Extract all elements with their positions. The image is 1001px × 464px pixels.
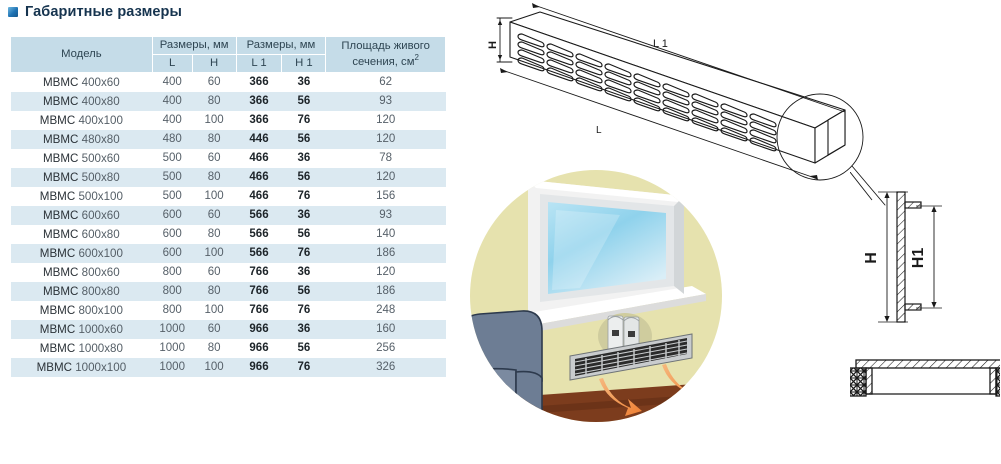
cell-l: 800: [152, 282, 192, 301]
cell-h: 80: [192, 168, 236, 187]
table-row: МВМС 480x804808044656120: [11, 130, 446, 149]
model-prefix: МВМС: [37, 361, 72, 374]
model-dimension: 800x100: [78, 304, 122, 317]
cell-model: МВМС 1000x80: [11, 339, 153, 358]
table-header: Модель Размеры, мм Размеры, мм Площадь ж…: [11, 37, 446, 73]
cell-l: 500: [152, 187, 192, 206]
cell-l: 1000: [152, 320, 192, 339]
cell-l1: 766: [236, 301, 282, 320]
cell-h: 100: [192, 301, 236, 320]
model-dimension: 1000x60: [78, 323, 122, 336]
header-sub-l1: L 1: [236, 54, 282, 72]
square-bullet-icon: [8, 7, 18, 17]
model-prefix: МВМС: [43, 266, 78, 279]
header-free-area: Площадь живого сечения, см2: [326, 37, 446, 73]
model-dimension: 400x80: [82, 95, 120, 108]
model-prefix: МВМС: [43, 95, 78, 108]
header-sub-h1: H 1: [282, 54, 326, 72]
cell-h1: 36: [282, 72, 326, 92]
model-prefix: МВМС: [43, 133, 78, 146]
model-dimension: 400x100: [78, 114, 122, 127]
model-prefix: МВМС: [40, 323, 75, 336]
page-title: Габаритные размеры: [8, 4, 182, 20]
model-prefix: МВМС: [43, 171, 78, 184]
cell-model: МВМС 500x60: [11, 149, 153, 168]
cell-model: МВМС 500x80: [11, 168, 153, 187]
cell-free-area: 326: [326, 358, 446, 377]
cell-h: 80: [192, 339, 236, 358]
cell-h1: 56: [282, 92, 326, 111]
cell-h: 60: [192, 263, 236, 282]
cell-h: 60: [192, 149, 236, 168]
table-row: МВМС 1000x8010008096656256: [11, 339, 446, 358]
cell-l: 480: [152, 130, 192, 149]
cell-h1: 56: [282, 168, 326, 187]
model-dimension: 1000x80: [78, 342, 122, 355]
table-row: МВМС 800x808008076656186: [11, 282, 446, 301]
cell-l: 400: [152, 72, 192, 92]
cell-h1: 76: [282, 111, 326, 130]
cell-l1: 766: [236, 263, 282, 282]
cell-h1: 56: [282, 130, 326, 149]
cell-free-area: 93: [326, 92, 446, 111]
cell-free-area: 186: [326, 282, 446, 301]
cell-free-area: 156: [326, 187, 446, 206]
cell-l1: 566: [236, 206, 282, 225]
iso-label-l1: L 1: [653, 38, 668, 50]
model-dimension: 600x60: [82, 209, 120, 222]
model-dimension: 500x80: [82, 171, 120, 184]
cell-h: 100: [192, 111, 236, 130]
table-row: МВМС 1000x6010006096636160: [11, 320, 446, 339]
cell-free-area: 186: [326, 244, 446, 263]
cell-l1: 566: [236, 225, 282, 244]
header-sub-l: L: [152, 54, 192, 72]
cell-l1: 966: [236, 358, 282, 377]
cell-h1: 36: [282, 149, 326, 168]
cell-model: МВМС 400x60: [11, 72, 153, 92]
model-dimension: 1000x100: [75, 361, 126, 374]
iso-label-h: H: [487, 41, 499, 49]
cell-model: МВМС 600x100: [11, 244, 153, 263]
cell-h1: 76: [282, 187, 326, 206]
section-label-h1: H1: [910, 248, 927, 269]
model-prefix: МВМС: [40, 247, 75, 260]
cell-h1: 76: [282, 358, 326, 377]
cell-h1: 56: [282, 339, 326, 358]
model-prefix: МВМС: [43, 152, 78, 165]
cell-l: 600: [152, 244, 192, 263]
cell-l1: 966: [236, 339, 282, 358]
cell-h1: 56: [282, 225, 326, 244]
table-header-row-1: Модель Размеры, мм Размеры, мм Площадь ж…: [11, 37, 446, 55]
cell-h1: 36: [282, 263, 326, 282]
cell-h: 100: [192, 187, 236, 206]
model-prefix: МВМС: [40, 114, 75, 127]
cell-model: МВМС 1000x100: [11, 358, 153, 377]
cell-h1: 36: [282, 206, 326, 225]
model-prefix: МВМС: [43, 76, 78, 89]
cell-h: 60: [192, 320, 236, 339]
cell-free-area: 120: [326, 111, 446, 130]
cell-l: 500: [152, 149, 192, 168]
table-row: МВМС 600x60600605663693: [11, 206, 446, 225]
cell-free-area: 93: [326, 206, 446, 225]
cell-model: МВМС 600x60: [11, 206, 153, 225]
cell-free-area: 248: [326, 301, 446, 320]
table-row: МВМС 400x80400803665693: [11, 92, 446, 111]
table-body: МВМС 400x60400603663662МВМС 400x80400803…: [11, 72, 446, 377]
cell-model: МВМС 1000x60: [11, 320, 153, 339]
model-prefix: МВМС: [40, 304, 75, 317]
model-dimension: 800x80: [82, 285, 120, 298]
table-row: МВМС 500x10050010046676156: [11, 187, 446, 206]
cell-h: 80: [192, 92, 236, 111]
cell-h: 80: [192, 282, 236, 301]
model-dimension: 500x100: [78, 190, 122, 203]
model-dimension: 800x60: [82, 266, 120, 279]
cross-section-drawing: H H1: [850, 172, 1000, 404]
cell-l: 800: [152, 263, 192, 282]
cell-l1: 566: [236, 244, 282, 263]
cell-free-area: 120: [326, 130, 446, 149]
cell-free-area: 62: [326, 72, 446, 92]
cell-free-area: 120: [326, 263, 446, 282]
iso-label-l: L: [596, 125, 602, 136]
header-group-dims-1: Размеры, мм: [152, 37, 236, 55]
cell-free-area: 256: [326, 339, 446, 358]
cell-free-area: 160: [326, 320, 446, 339]
cell-free-area: 140: [326, 225, 446, 244]
table-row: МВМС 400x60400603663662: [11, 72, 446, 92]
cell-h: 80: [192, 225, 236, 244]
cell-l: 800: [152, 301, 192, 320]
table-row: МВМС 1000x100100010096676326: [11, 358, 446, 377]
dimensions-table: Модель Размеры, мм Размеры, мм Площадь ж…: [10, 36, 446, 377]
cell-h: 100: [192, 244, 236, 263]
model-prefix: МВМС: [43, 285, 78, 298]
table-row: МВМС 600x806008056656140: [11, 225, 446, 244]
model-prefix: МВМС: [43, 228, 78, 241]
table-row: МВМС 500x60500604663678: [11, 149, 446, 168]
cell-l1: 766: [236, 282, 282, 301]
cell-l1: 366: [236, 72, 282, 92]
cell-l: 600: [152, 225, 192, 244]
cell-l: 1000: [152, 358, 192, 377]
model-dimension: 500x60: [82, 152, 120, 165]
cell-model: МВМС 500x100: [11, 187, 153, 206]
cell-l: 1000: [152, 339, 192, 358]
cell-h: 100: [192, 358, 236, 377]
cell-model: МВМС 800x80: [11, 282, 153, 301]
cell-h: 60: [192, 72, 236, 92]
cell-l1: 466: [236, 149, 282, 168]
cell-l1: 366: [236, 92, 282, 111]
cell-h1: 76: [282, 244, 326, 263]
cell-l1: 966: [236, 320, 282, 339]
header-free-area-sup: 2: [414, 53, 418, 62]
table-row: МВМС 800x10080010076676248: [11, 301, 446, 320]
model-dimension: 600x100: [78, 247, 122, 260]
cell-l: 400: [152, 111, 192, 130]
header-model: Модель: [11, 37, 153, 73]
cell-l: 600: [152, 206, 192, 225]
model-dimension: 480x80: [82, 133, 120, 146]
cell-h: 80: [192, 130, 236, 149]
room-installation-illustration: [470, 168, 722, 424]
cell-model: МВМС 800x60: [11, 263, 153, 282]
cell-model: МВМС 800x100: [11, 301, 153, 320]
model-prefix: МВМС: [40, 342, 75, 355]
cell-free-area: 120: [326, 168, 446, 187]
cell-model: МВМС 480x80: [11, 130, 153, 149]
header-sub-h: H: [192, 54, 236, 72]
model-dimension: 400x60: [82, 76, 120, 89]
cell-l1: 446: [236, 130, 282, 149]
section-label-h: H: [863, 252, 880, 264]
cell-model: МВМС 600x80: [11, 225, 153, 244]
cell-l1: 466: [236, 168, 282, 187]
cell-model: МВМС 400x100: [11, 111, 153, 130]
table-row: МВМС 500x805008046656120: [11, 168, 446, 187]
cell-l1: 366: [236, 111, 282, 130]
cell-h1: 56: [282, 282, 326, 301]
table-row: МВМС 600x10060010056676186: [11, 244, 446, 263]
model-prefix: МВМС: [40, 190, 75, 203]
cell-h: 60: [192, 206, 236, 225]
cell-h1: 36: [282, 320, 326, 339]
cell-l1: 466: [236, 187, 282, 206]
table-row: МВМС 400x10040010036676120: [11, 111, 446, 130]
cell-l: 400: [152, 92, 192, 111]
cell-free-area: 78: [326, 149, 446, 168]
page-title-text: Габаритные размеры: [25, 4, 182, 20]
model-prefix: МВМС: [43, 209, 78, 222]
model-dimension: 600x80: [82, 228, 120, 241]
cell-model: МВМС 400x80: [11, 92, 153, 111]
cell-h1: 76: [282, 301, 326, 320]
header-group-dims-2: Размеры, мм: [236, 37, 326, 55]
table-row: МВМС 800x608006076636120: [11, 263, 446, 282]
cell-l: 500: [152, 168, 192, 187]
